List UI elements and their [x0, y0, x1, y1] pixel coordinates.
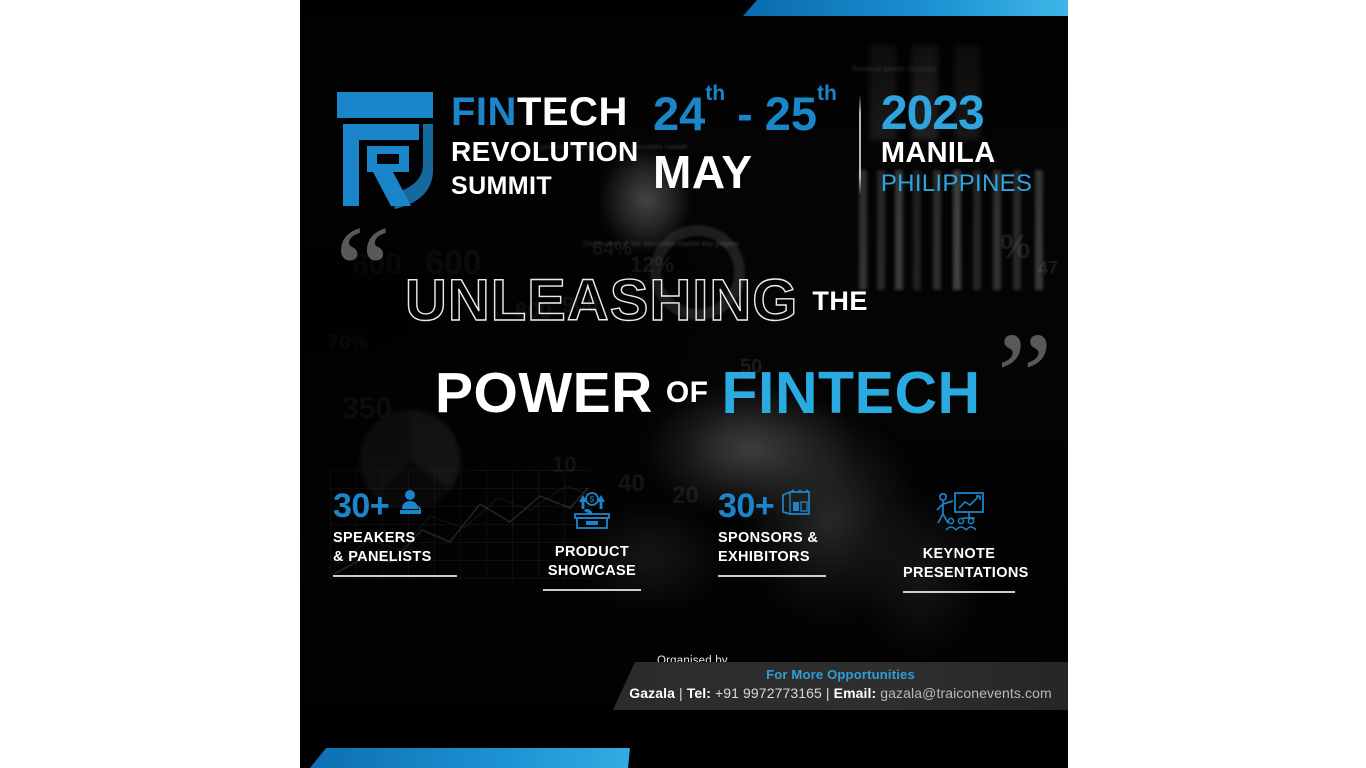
event-year: 2023: [881, 90, 1032, 137]
stat-label: PRODUCT SHOWCASE: [543, 543, 641, 581]
stat-number: 30+: [718, 489, 774, 523]
stat-label: SPONSORS & EXHIBITORS: [718, 529, 826, 567]
contact-details: Gazala | Tel: +91 9972773165 | Email: ga…: [613, 685, 1068, 701]
screenshot-canvas: 600 600 350 40 10 20 % 12% 70% 800 900 5…: [0, 0, 1366, 768]
stat-sponsors: 30+ SPONSORS &: [718, 488, 826, 577]
stat-label-line2: PRESENTATIONS: [903, 564, 1015, 583]
contact-tel-value[interactable]: +91 9972773165: [715, 685, 822, 701]
stat-label-line2: SHOWCASE: [543, 562, 641, 581]
quote-close-icon: ”: [997, 378, 1053, 434]
event-poster: 600 600 350 40 10 20 % 12% 70% 800 900 5…: [300, 0, 1068, 768]
brand-fin: FIN: [451, 90, 517, 134]
contact-tel-label: Tel:: [687, 685, 711, 701]
brand-line-1: FINTECH: [451, 92, 639, 132]
contact-separator-2: |: [826, 685, 830, 701]
headline-the: THE: [812, 286, 868, 317]
event-day-range: 24th-25th: [653, 90, 837, 137]
accent-bar-top-right: [743, 0, 1068, 16]
quote-open-icon: “: [335, 271, 391, 327]
headline-power: POWER: [435, 365, 653, 422]
poster-header: FINTECH REVOLUTION SUMMIT: [333, 88, 639, 210]
day-dash: -: [737, 87, 753, 140]
fintech-shield-monogram-icon: [333, 88, 437, 210]
stat-label-line1: SPEAKERS: [333, 529, 457, 548]
headline-row-1: “ UNLEASHING THE: [300, 272, 1068, 330]
stats-row: 30+ SPEAKERS & PANELISTS: [333, 488, 1033, 588]
stat-top-row: 30+: [718, 488, 826, 523]
stat-label-line2: & PANELISTS: [333, 548, 457, 567]
stat-label-line1: SPONSORS &: [718, 529, 826, 548]
contact-email-value[interactable]: gazala@traiconevents.com: [880, 685, 1051, 701]
stat-speakers: 30+ SPEAKERS & PANELISTS: [333, 488, 457, 577]
event-location: 2023 MANILA PHILIPPINES: [881, 90, 1032, 199]
headline-of: OF: [666, 376, 709, 410]
stat-underline: [543, 589, 641, 591]
accent-bar-bottom-left: [310, 748, 630, 768]
stat-label-line1: KEYNOTE: [903, 545, 1015, 564]
day-start-suffix: th: [705, 82, 725, 105]
poster-headline: “ UNLEASHING THE POWER OF FINTECH ”: [300, 272, 1068, 434]
brand-wordmark: FINTECH REVOLUTION SUMMIT: [451, 92, 639, 202]
exhibition-booth-icon: [780, 488, 812, 523]
speaker-at-podium-icon: [395, 488, 425, 523]
stat-underline: [333, 575, 457, 577]
contact-banner: For More Opportunities Gazala | Tel: +91…: [613, 662, 1068, 710]
contact-heading: For More Opportunities: [613, 667, 1068, 682]
stat-label-line2: EXHIBITORS: [718, 548, 826, 567]
headline-unleashing: UNLEASHING: [405, 272, 798, 330]
headline-fintech: FINTECH: [722, 364, 981, 423]
brand-tech: TECH: [517, 90, 628, 134]
product-box-growth-icon: $: [543, 490, 641, 537]
event-city: MANILA: [881, 137, 1032, 170]
headline-row-2: POWER OF FINTECH ”: [300, 352, 1068, 434]
stat-number: 30+: [333, 489, 389, 523]
svg-text:$: $: [590, 495, 595, 504]
stat-label-line1: PRODUCT: [543, 543, 641, 562]
stat-underline: [903, 591, 1015, 593]
stat-product-showcase: $ PRODUCT SHOWCASE: [543, 490, 641, 591]
day-end: 25: [765, 87, 817, 140]
stat-underline: [718, 575, 826, 577]
vertical-divider: [859, 96, 861, 194]
contact-separator-1: |: [679, 685, 683, 701]
stat-top-row: 30+: [333, 488, 457, 523]
stat-label: KEYNOTE PRESENTATIONS: [903, 545, 1015, 583]
stat-keynote: KEYNOTE PRESENTATIONS: [903, 490, 1015, 593]
contact-name: Gazala: [629, 685, 675, 701]
event-country: PHILIPPINES: [881, 170, 1032, 198]
event-date-location: 24th-25th MAY 2023 MANILA PHILIPPINES: [653, 90, 1032, 199]
contact-email-label: Email:: [834, 685, 877, 701]
event-month: MAY: [653, 149, 837, 195]
event-dates: 24th-25th MAY: [653, 90, 837, 199]
day-end-suffix: th: [817, 82, 837, 105]
day-start: 24: [653, 87, 705, 140]
brand-line-3: SUMMIT: [451, 171, 639, 202]
presenter-whiteboard-audience-icon: [903, 490, 1015, 539]
brand-line-2: REVOLUTION: [451, 134, 639, 170]
stat-label: SPEAKERS & PANELISTS: [333, 529, 457, 567]
